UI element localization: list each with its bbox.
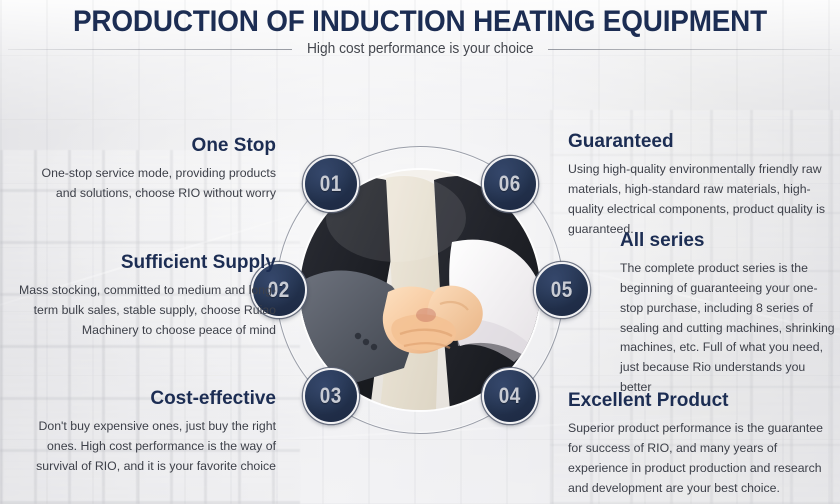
feature-one-stop: One Stop One-stop service mode, providin… (20, 135, 276, 204)
badge-05[interactable]: 05 (534, 262, 590, 318)
feature-excellent-product-heading: Excellent Product (568, 390, 834, 412)
badge-04-number: 04 (499, 383, 521, 409)
feature-all-series-body: The complete product series is the begin… (620, 259, 836, 398)
feature-all-series: All series The complete product series i… (620, 230, 836, 398)
badge-05-number: 05 (551, 277, 573, 303)
badge-01[interactable]: 01 (303, 156, 359, 212)
feature-sufficient-supply: Sufficient Supply Mass stocking, committ… (10, 252, 276, 341)
feature-all-series-heading: All series (620, 230, 836, 252)
feature-sufficient-supply-body: Mass stocking, committed to medium and l… (10, 281, 276, 341)
feature-cost-effective-body: Don't buy expensive ones, just buy the r… (10, 417, 276, 477)
badge-03[interactable]: 03 (303, 368, 359, 424)
feature-sufficient-supply-heading: Sufficient Supply (10, 252, 276, 274)
subtitle-row: High cost performance is your choice (8, 40, 832, 58)
feature-excellent-product-body: Superior product performance is the guar… (568, 419, 834, 499)
center-hub: 01 02 03 04 05 06 (276, 146, 564, 434)
feature-cost-effective-heading: Cost-effective (10, 388, 276, 410)
badge-03-number: 03 (320, 383, 342, 409)
feature-guaranteed-body: Using high-quality environmentally frien… (568, 160, 832, 240)
divider-left (8, 49, 292, 50)
badge-04[interactable]: 04 (482, 368, 538, 424)
feature-cost-effective: Cost-effective Don't buy expensive ones,… (10, 388, 276, 477)
badge-06-number: 06 (499, 171, 521, 197)
page-subtitle: High cost performance is your choice (307, 41, 534, 57)
feature-one-stop-heading: One Stop (20, 135, 276, 157)
feature-one-stop-body: One-stop service mode, providing product… (20, 164, 276, 204)
page-title: PRODUCTION OF INDUCTION HEATING EQUIPMEN… (29, 5, 810, 39)
badge-01-number: 01 (320, 171, 342, 197)
infographic-canvas: PRODUCTION OF INDUCTION HEATING EQUIPMEN… (0, 0, 840, 504)
divider-right (548, 49, 832, 50)
feature-guaranteed: Guaranteed Using high-quality environmen… (568, 131, 832, 239)
header: PRODUCTION OF INDUCTION HEATING EQUIPMEN… (0, 0, 840, 62)
badge-06[interactable]: 06 (482, 156, 538, 212)
feature-excellent-product: Excellent Product Superior product perfo… (568, 390, 834, 498)
feature-guaranteed-heading: Guaranteed (568, 131, 832, 153)
